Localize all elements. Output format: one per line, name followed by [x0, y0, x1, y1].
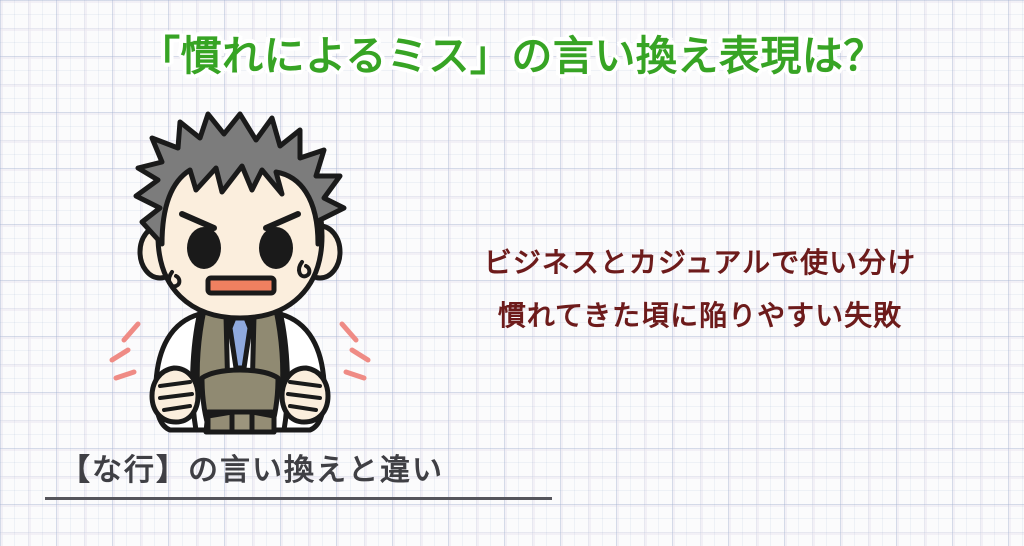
- caption-underline: [45, 497, 552, 500]
- subtitle-line-2: 慣れてきた頃に陥りやすい失敗: [440, 289, 960, 342]
- vest-hem-segment-left: [208, 412, 232, 432]
- caption-block: 【な行】の言い換えと違い: [45, 447, 565, 500]
- slide-canvas: 「慣れによるミス」の言い換え表現は？: [0, 0, 1024, 546]
- mouth: [208, 278, 274, 293]
- anger-marks-left: [112, 324, 138, 378]
- subtitle-line-1: ビジネスとカジュアルで使い分け: [440, 236, 960, 289]
- subtitle-block: ビジネスとカジュアルで使い分け 慣れてきた頃に陥りやすい失敗: [440, 236, 960, 342]
- necktie: [230, 318, 250, 368]
- page-title: 「慣れによるミス」の言い換え表現は？: [0, 28, 1024, 84]
- right-eye: [259, 227, 293, 269]
- frustrated-businessman-illustration: [104, 106, 376, 436]
- left-eye: [187, 227, 221, 269]
- anger-marks-right: [342, 324, 368, 378]
- vest-hem-segment-right: [252, 412, 274, 432]
- caption-text: 【な行】の言い換えと違い: [45, 447, 565, 495]
- illustration-svg: [104, 106, 376, 436]
